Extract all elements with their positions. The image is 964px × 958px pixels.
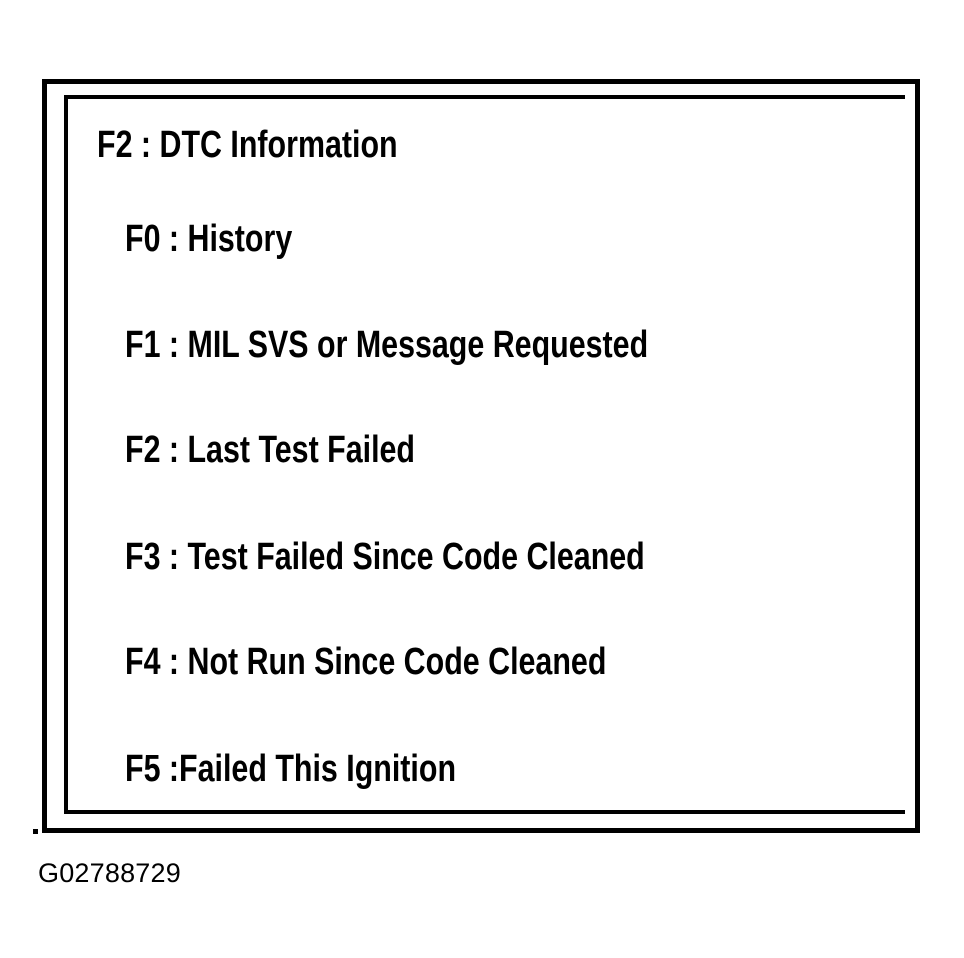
menu-item-f0-history[interactable]: F0 : History	[125, 220, 292, 258]
figure-caption: G02788729	[38, 858, 181, 889]
menu-item-f5-failed-this-ignition[interactable]: F5 :Failed This Ignition	[125, 750, 456, 788]
screen-title: F2 : DTC Information	[97, 126, 398, 164]
screen-text-block: F2 : DTC Information F0 : History F1 : M…	[0, 0, 964, 958]
scan-tool-figure: F2 : DTC Information F0 : History F1 : M…	[0, 0, 964, 958]
menu-item-f1-mil-svs-or-message-requested[interactable]: F1 : MIL SVS or Message Requested	[125, 326, 648, 364]
menu-item-f4-not-run-since-code-cleaned[interactable]: F4 : Not Run Since Code Cleaned	[125, 643, 606, 681]
menu-item-f3-test-failed-since-code-cleaned[interactable]: F3 : Test Failed Since Code Cleaned	[125, 538, 645, 576]
menu-item-f2-last-test-failed[interactable]: F2 : Last Test Failed	[125, 431, 415, 469]
